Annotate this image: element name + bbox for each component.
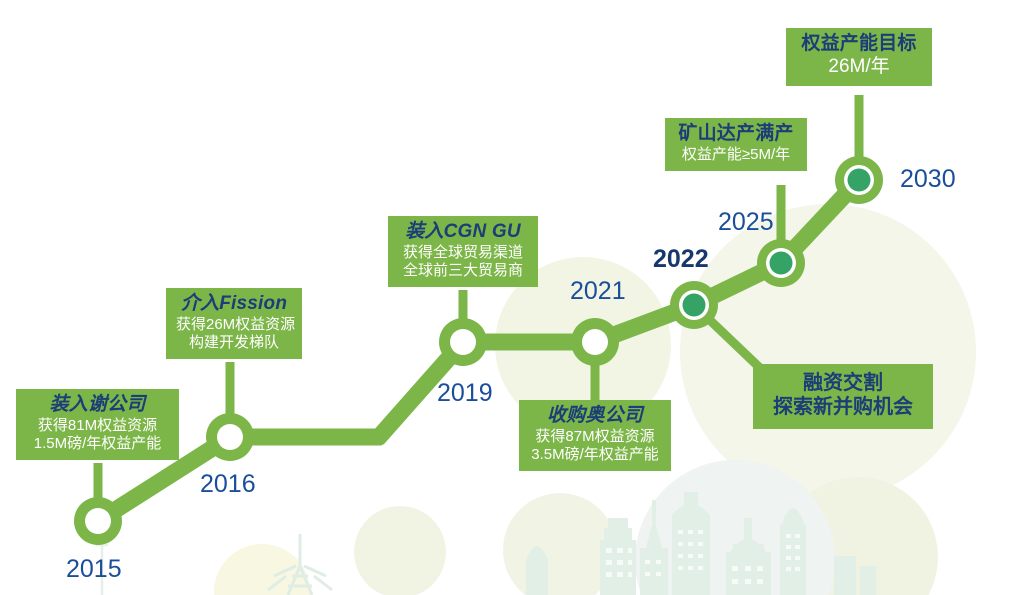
callout-2016-line2: 构建开发梯队	[176, 334, 292, 352]
callout-2015[interactable]: 装入谢公司 获得81M权益资源 1.5M磅/年权益产能	[16, 389, 179, 460]
callout-2021-line1: 获得87M权益资源	[529, 428, 661, 446]
callout-2016-title: 介入Fission	[176, 293, 292, 315]
callout-2022-line1: 融资交割	[763, 372, 923, 396]
callout-2015-line2: 1.5M磅/年权益产能	[26, 435, 169, 453]
year-label-2019: 2019	[437, 379, 493, 408]
timeline-path	[0, 0, 1029, 595]
callout-2019-title: 装入CGN GU	[398, 221, 528, 243]
callout-2016[interactable]: 介入Fission 获得26M权益资源 构建开发梯队	[166, 288, 302, 359]
node-2019[interactable]	[439, 318, 487, 366]
node-2016[interactable]	[206, 413, 254, 461]
year-label-2022: 2022	[653, 245, 709, 274]
node-2025[interactable]	[757, 239, 805, 287]
callout-2025[interactable]: 矿山达产满产 权益产能≥5M/年	[665, 118, 807, 171]
callout-2019-line2: 全球前三大贸易商	[398, 262, 528, 280]
callout-2021[interactable]: 收购奥公司 获得87M权益资源 3.5M磅/年权益产能	[519, 400, 671, 471]
node-2030[interactable]	[835, 156, 883, 204]
callout-2015-line1: 获得81M权益资源	[26, 417, 169, 435]
node-2022[interactable]	[670, 281, 718, 329]
callout-2022[interactable]: 融资交割 探索新并购机会	[753, 364, 933, 429]
callout-2030-title: 权益产能目标	[796, 33, 922, 55]
callout-2021-title: 收购奥公司	[529, 405, 661, 427]
year-label-2021: 2021	[570, 277, 626, 306]
callout-2030-line1: 26M/年	[796, 56, 922, 78]
callout-2015-title: 装入谢公司	[26, 394, 169, 416]
node-2015[interactable]	[74, 497, 122, 545]
callout-2025-line1: 权益产能≥5M/年	[675, 146, 797, 164]
callout-2025-title: 矿山达产满产	[675, 123, 797, 145]
callout-2022-line2: 探索新并购机会	[763, 396, 923, 420]
year-label-2015: 2015	[66, 555, 122, 584]
year-label-2025: 2025	[718, 208, 774, 237]
callout-2016-line1: 获得26M权益资源	[176, 316, 292, 334]
node-2021[interactable]	[571, 318, 619, 366]
callout-2021-line2: 3.5M磅/年权益产能	[529, 446, 661, 464]
callout-2019-line1: 获得全球贸易渠道	[398, 244, 528, 262]
year-label-2030: 2030	[900, 165, 956, 194]
callout-2019[interactable]: 装入CGN GU 获得全球贸易渠道 全球前三大贸易商	[388, 216, 538, 287]
year-label-2016: 2016	[200, 470, 256, 499]
timeline-infographic: 2015 2016 2019 2021 2022 2025 2030 装入谢公司…	[0, 0, 1029, 595]
callout-2030[interactable]: 权益产能目标 26M/年	[786, 28, 932, 86]
